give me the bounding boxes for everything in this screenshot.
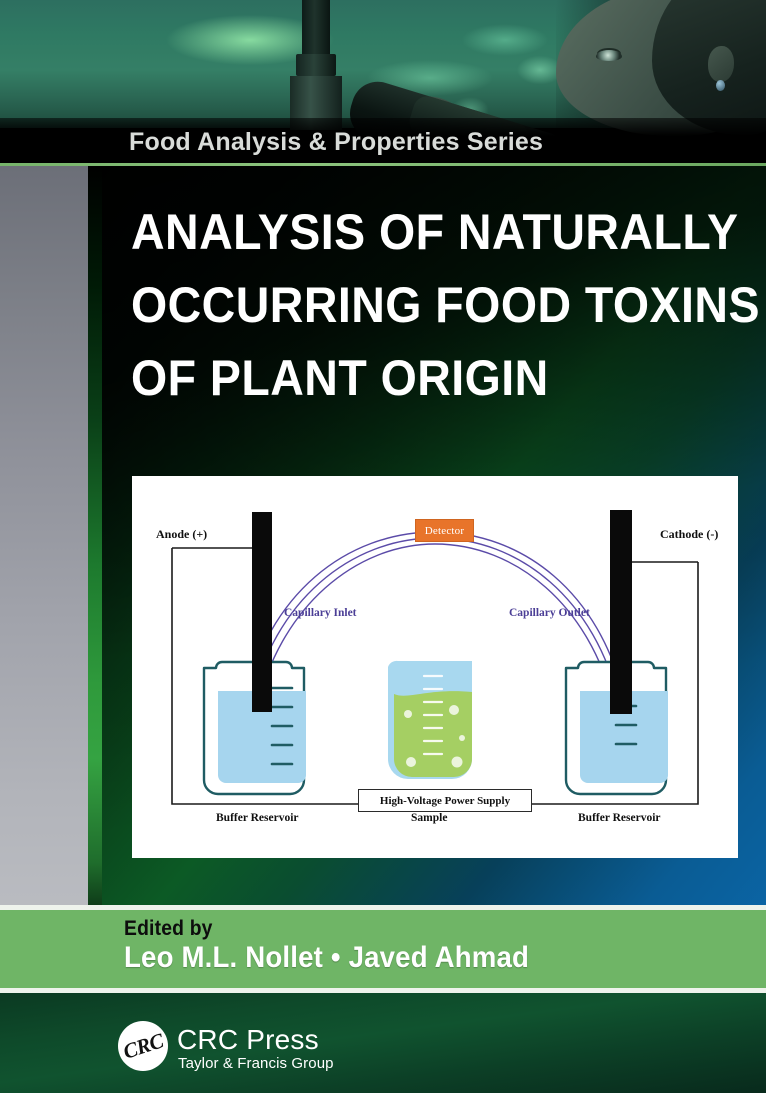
photo-scientist-earring bbox=[716, 80, 725, 91]
spine-green-column bbox=[88, 166, 102, 907]
label-buffer-reservoir-right: Buffer Reservoir bbox=[578, 812, 661, 824]
photo-scientist-eye bbox=[596, 50, 622, 61]
photo-scientist-ear bbox=[708, 46, 734, 82]
high-voltage-power-supply-box: High-Voltage Power Supply bbox=[358, 789, 532, 812]
label-capillary-outlet: Capillary Outlet bbox=[509, 607, 590, 619]
title-line-1: ANALYSIS OF NATURALLY bbox=[131, 196, 698, 269]
label-anode: Anode (+) bbox=[156, 527, 207, 542]
label-buffer-reservoir-left: Buffer Reservoir bbox=[216, 812, 299, 824]
sample-beaker bbox=[388, 661, 472, 779]
edited-by-label: Edited by bbox=[124, 917, 213, 941]
series-title: Food Analysis & Properties Series bbox=[129, 128, 543, 157]
label-sample: Sample bbox=[411, 812, 447, 824]
anode-electrode bbox=[252, 512, 272, 712]
label-cathode: Cathode (-) bbox=[660, 527, 718, 542]
publisher-name: CRC Press bbox=[177, 1024, 319, 1056]
title-line-2: OCCURRING FOOD TOXINS bbox=[131, 269, 698, 342]
wire-cathode-lead bbox=[622, 562, 698, 634]
wire-anode-lead bbox=[172, 548, 262, 636]
publisher-imprint: Taylor & Francis Group bbox=[178, 1055, 334, 1072]
crc-logo-text: CRC bbox=[120, 1028, 166, 1064]
editors-names: Leo M.L. Nollet • Javed Ahmad bbox=[124, 941, 529, 975]
cover-photo-microscope bbox=[0, 0, 766, 128]
cathode-electrode bbox=[610, 510, 632, 714]
crc-logo-icon: CRC bbox=[118, 1021, 168, 1071]
microscope-collar bbox=[296, 54, 336, 76]
title-line-3: OF PLANT ORIGIN bbox=[131, 342, 698, 415]
label-capillary-inlet: Capillary Inlet bbox=[284, 607, 357, 619]
page-title: ANALYSIS OF NATURALLY OCCURRING FOOD TOX… bbox=[131, 196, 698, 415]
detector-box: Detector bbox=[415, 519, 474, 542]
book-cover: Food Analysis & Properties Series ANALYS… bbox=[0, 0, 766, 1093]
publisher-band bbox=[0, 993, 766, 1093]
